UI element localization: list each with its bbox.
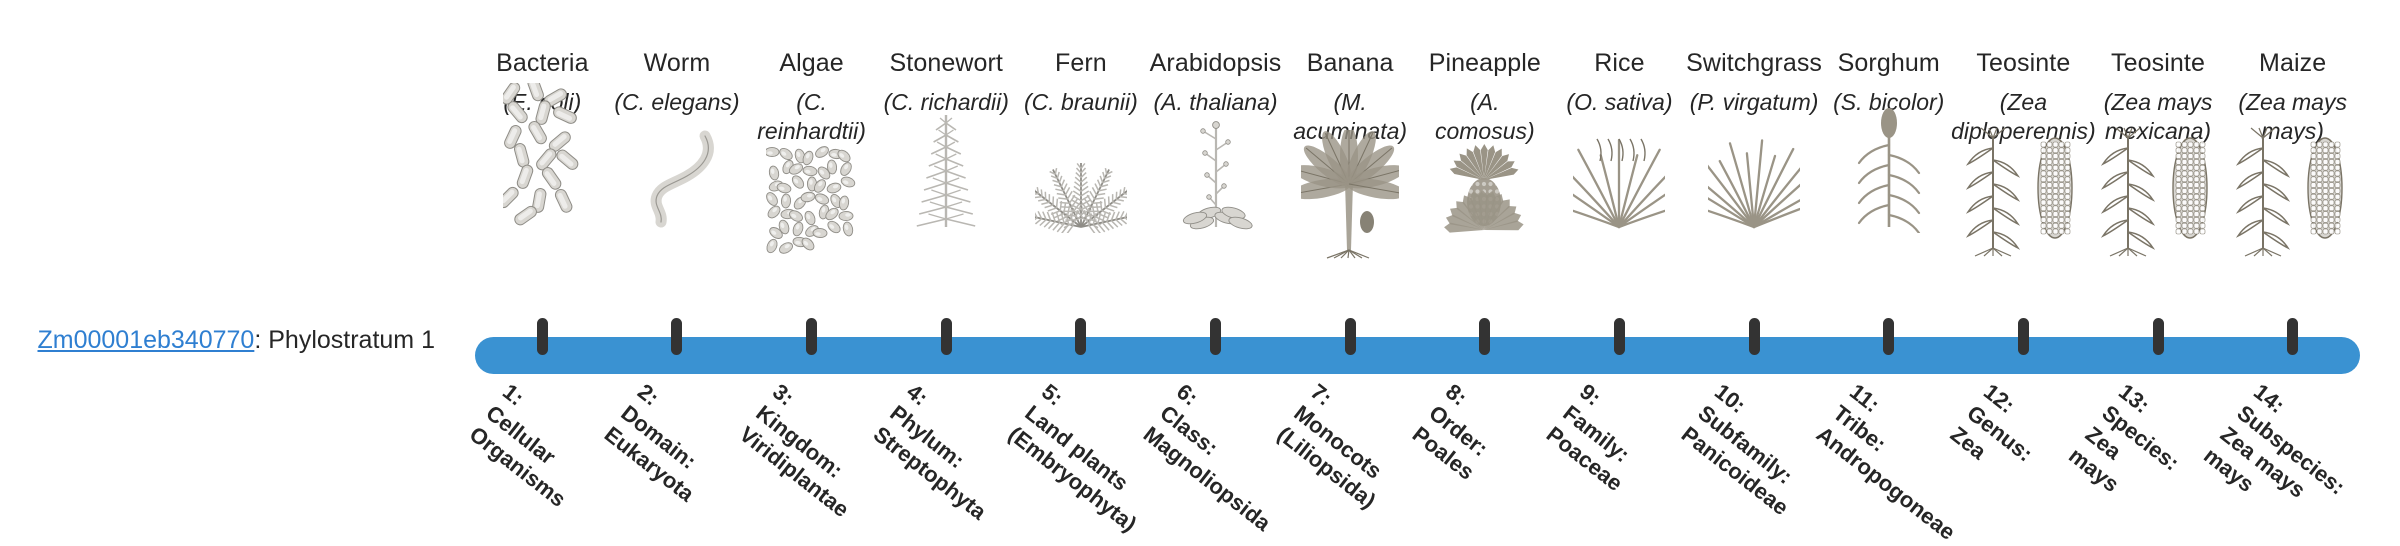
species-column: Teosinte(Zea mays mexicana)	[2091, 48, 2226, 262]
species-column: Banana(M. acuminata)	[1283, 48, 1418, 262]
species-common-name: Algae	[779, 48, 843, 78]
species-column: Maize(Zea mays mays)	[2225, 48, 2360, 262]
axis-tick	[1883, 318, 1894, 355]
axis-tick	[806, 318, 817, 355]
species-common-name: Worm	[644, 48, 711, 78]
axis-bar	[475, 337, 2360, 374]
bacteria-illustration-icon	[503, 125, 581, 233]
banana-illustration-icon	[1301, 154, 1399, 262]
teosinte-illustration-icon	[1963, 154, 2083, 262]
rank-label: 1:CellularOrganisms	[464, 378, 604, 513]
species-column: Pineapple(A. comosus)	[1417, 48, 1552, 262]
gene-label-separator: :	[254, 326, 268, 354]
axis-tick	[1075, 318, 1086, 355]
axis-tick	[2287, 318, 2298, 355]
rank-label: 14:Subspecies:Zea maysmays	[2198, 378, 2367, 543]
axis-tick	[941, 318, 952, 355]
species-common-name: Maize	[2259, 48, 2326, 78]
axis-tick	[1749, 318, 1760, 355]
phylostratum-figure: Bacteria(E. coli)	[0, 0, 2400, 520]
rank-label: 6:Class:Magnoliopsida	[1138, 378, 1309, 537]
rank-label: 9:Family:Poaceae	[1542, 378, 1662, 497]
fern-illustration-icon	[1035, 125, 1127, 233]
axis-tick	[1479, 318, 1490, 355]
species-column: Rice(O. sativa)	[1552, 48, 1687, 233]
rank-label: 7:Monocots(Liliopsida)	[1272, 378, 1414, 514]
species-common-name: Pineapple	[1429, 48, 1541, 78]
species-scientific-name: (C. elegans)	[612, 88, 741, 117]
switchgrass-illustration-icon	[1708, 125, 1800, 233]
species-column: Fern(C. braunii)	[1014, 48, 1149, 233]
species-common-name: Arabidopsis	[1150, 48, 1282, 78]
rank-label: 10:Subfamily:Panicoideae	[1676, 378, 1827, 521]
worm-illustration-icon	[631, 125, 723, 233]
axis-tick	[2018, 318, 2029, 355]
arabidopsis-illustration-icon	[1170, 125, 1262, 233]
species-common-name: Stonewort	[890, 48, 1003, 78]
species-column: Arabidopsis(A. thaliana)	[1148, 48, 1283, 233]
rank-label: 13:Species:Zeamays	[2064, 378, 2202, 519]
rice-illustration-icon	[1573, 125, 1665, 233]
axis-tick	[537, 318, 548, 355]
rank-label: 2:Domain:Eukaryota	[599, 378, 733, 507]
axis-tick	[1614, 318, 1625, 355]
gene-id-link[interactable]: Zm00001eb340770	[37, 326, 254, 354]
axis-tick	[1210, 318, 1221, 355]
stonewort-illustration-icon	[902, 125, 990, 233]
rank-label: 8:Order:Poales	[1407, 378, 1513, 486]
teosinte-illustration-icon	[2098, 154, 2218, 262]
species-column: Switchgrass(P. virgatum)	[1687, 48, 1822, 233]
species-column: Algae(C. reinhardtii)	[744, 48, 879, 262]
species-common-name: Bacteria	[496, 48, 589, 78]
phylostratum-value: Phylostratum 1	[268, 326, 435, 354]
species-common-name: Sorghum	[1838, 48, 1940, 78]
phylostratum-axis	[475, 337, 2360, 374]
sorghum-illustration-icon	[1843, 125, 1935, 233]
maize-illustration-icon	[2233, 154, 2353, 262]
rank-label: 4:Phylum:Streptophyta	[868, 378, 1025, 525]
species-column: Worm(C. elegans)	[610, 48, 745, 233]
species-header-row: Bacteria(E. coli)	[475, 48, 2360, 303]
rank-label: 3:Kingdom:Viridiplantae	[734, 378, 888, 523]
axis-tick	[671, 318, 682, 355]
species-common-name: Switchgrass	[1686, 48, 1822, 78]
species-column: Stonewort(C. richardii)	[879, 48, 1014, 233]
rank-label-group: 1:CellularOrganisms2:Domain:Eukaryota3:K…	[475, 378, 2360, 520]
rank-label: 5:Land plants(Embryophyta)	[1003, 378, 1175, 537]
axis-tick	[1345, 318, 1356, 355]
species-common-name: Teosinte	[2111, 48, 2205, 78]
algae-illustration-icon	[766, 154, 858, 262]
species-column: Teosinte(Zea diploperennis)	[1956, 48, 2091, 262]
species-common-name: Teosinte	[1976, 48, 2070, 78]
pineapple-illustration-icon	[1439, 154, 1531, 262]
species-common-name: Fern	[1055, 48, 1107, 78]
species-scientific-name: (C. reinhardtii)	[744, 88, 879, 146]
species-column: Sorghum(S. bicolor)	[1821, 48, 1956, 233]
species-common-name: Banana	[1307, 48, 1394, 78]
rank-label: 11:Tribe:Andropogoneae	[1811, 378, 1994, 546]
species-common-name: Rice	[1594, 48, 1644, 78]
gene-phylostratum-label: Zm00001eb340770: Phylostratum 1	[37, 325, 435, 355]
species-column: Bacteria(E. coli)	[475, 48, 610, 233]
axis-tick	[2153, 318, 2164, 355]
